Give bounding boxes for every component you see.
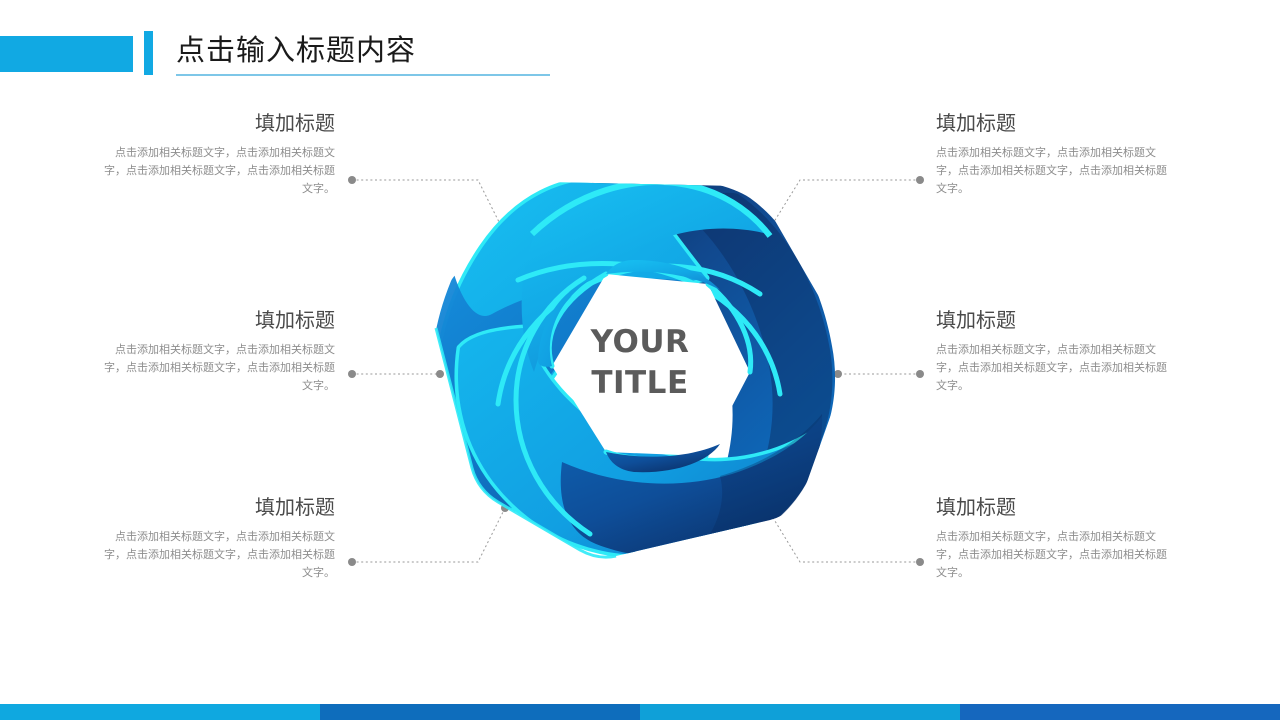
info-block-title: 填加标题 [936, 494, 1176, 520]
center-title-line2: TITLE [540, 363, 740, 404]
info-block-title: 填加标题 [936, 110, 1176, 136]
info-block-title: 填加标题 [936, 307, 1176, 333]
info-block-body: 点击添加相关标题文字，点击添加相关标题文字，点击添加相关标题文字，点击添加相关标… [936, 528, 1176, 582]
slide-canvas: 点击输入标题内容 [0, 0, 1280, 720]
connector-dot-text-mid-left [348, 370, 356, 378]
center-title-line1: YOUR [540, 322, 740, 363]
connector-dot-text-top-left [348, 176, 356, 184]
info-block-left-2[interactable]: 填加标题 点击添加相关标题文字，点击添加相关标题文字，点击添加相关标题文字，点击… [95, 307, 335, 395]
footer-segment-1 [0, 704, 320, 720]
connector-dot-text-bottom-left [348, 558, 356, 566]
header-blue-block [0, 36, 133, 72]
header-underline [176, 74, 550, 76]
info-block-body: 点击添加相关标题文字，点击添加相关标题文字，点击添加相关标题文字，点击添加相关标… [936, 341, 1176, 395]
info-block-right-1[interactable]: 填加标题 点击添加相关标题文字，点击添加相关标题文字，点击添加相关标题文字，点击… [936, 110, 1176, 198]
connector-dot-text-mid-right [916, 370, 924, 378]
connector-dot-text-top-right [916, 176, 924, 184]
info-block-right-3[interactable]: 填加标题 点击添加相关标题文字，点击添加相关标题文字，点击添加相关标题文字，点击… [936, 494, 1176, 582]
info-block-body: 点击添加相关标题文字，点击添加相关标题文字，点击添加相关标题文字，点击添加相关标… [936, 144, 1176, 198]
footer-segment-3 [640, 704, 960, 720]
info-block-left-1[interactable]: 填加标题 点击添加相关标题文字，点击添加相关标题文字，点击添加相关标题文字，点击… [95, 110, 335, 198]
info-block-body: 点击添加相关标题文字，点击添加相关标题文字，点击添加相关标题文字，点击添加相关标… [95, 341, 335, 395]
footer-segment-4 [960, 704, 1280, 720]
connector-dot-text-bottom-right [916, 558, 924, 566]
info-block-left-3[interactable]: 填加标题 点击添加相关标题文字，点击添加相关标题文字，点击添加相关标题文字，点击… [95, 494, 335, 582]
page-title: 点击输入标题内容 [176, 30, 416, 70]
info-block-body: 点击添加相关标题文字，点击添加相关标题文字，点击添加相关标题文字，点击添加相关标… [95, 144, 335, 198]
footer-segment-2 [320, 704, 640, 720]
info-block-title: 填加标题 [95, 110, 335, 136]
header-accent-bar [144, 31, 153, 75]
footer-color-bar [0, 704, 1280, 720]
center-title: YOUR TITLE [540, 322, 740, 404]
info-block-right-2[interactable]: 填加标题 点击添加相关标题文字，点击添加相关标题文字，点击添加相关标题文字，点击… [936, 307, 1176, 395]
info-block-title: 填加标题 [95, 307, 335, 333]
info-block-body: 点击添加相关标题文字，点击添加相关标题文字，点击添加相关标题文字，点击添加相关标… [95, 528, 335, 582]
info-block-title: 填加标题 [95, 494, 335, 520]
